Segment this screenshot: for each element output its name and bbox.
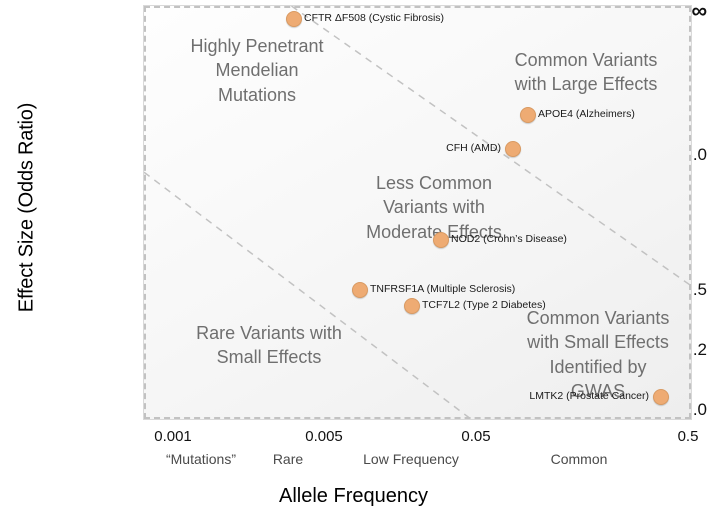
- data-point-label: APOE4 (Alzheimers): [538, 107, 635, 121]
- data-point-label: TNFRSF1A (Multiple Sclerosis): [370, 282, 515, 296]
- x-tick-0-005: 0.005: [305, 428, 343, 445]
- x-tick-0-05: 0.05: [461, 428, 490, 445]
- data-point-marker: [520, 107, 536, 123]
- data-point-label: CFTR ΔF508 (Cystic Fibrosis): [304, 11, 444, 25]
- data-point-marker: [352, 282, 368, 298]
- data-point-marker: [286, 11, 302, 27]
- data-point-marker: [505, 141, 521, 157]
- zone-label-bottom-left: Rare Variants with Small Effects: [164, 321, 374, 370]
- data-point-marker: [404, 298, 420, 314]
- genetic-architecture-scatter-chart: Effect Size (Odds Ratio) ∞ Large 5.0 Mod…: [0, 0, 707, 521]
- x-tick-0-001: 0.001: [154, 428, 192, 445]
- y-axis-title: Effect Size (Odds Ratio): [16, 0, 39, 418]
- x-tick-0-5: 0.5: [678, 428, 699, 445]
- data-point-marker: [433, 232, 449, 248]
- plot-area: Highly Penetrant Mendelian Mutations Com…: [143, 5, 692, 420]
- data-point-marker: [653, 389, 669, 405]
- data-point-label: NOD2 (Crohn’s Disease): [451, 232, 567, 246]
- data-point-label: TCF7L2 (Type 2 Diabetes): [422, 298, 546, 312]
- x-tick-label-common: Common: [551, 451, 608, 467]
- x-tick-label-mutations: “Mutations”: [166, 451, 236, 467]
- zone-label-top-right: Common Variants with Large Effects: [486, 48, 686, 97]
- x-axis-title: Allele Frequency: [0, 485, 707, 508]
- data-point-label: LMTK2 (Prostate Cancer): [529, 389, 649, 403]
- zone-label-top-left: Highly Penetrant Mendelian Mutations: [152, 34, 362, 107]
- x-tick-label-low-frequency: Low Frequency: [363, 451, 459, 467]
- x-tick-label-rare: Rare: [273, 451, 303, 467]
- data-point-label: CFH (AMD): [446, 141, 501, 155]
